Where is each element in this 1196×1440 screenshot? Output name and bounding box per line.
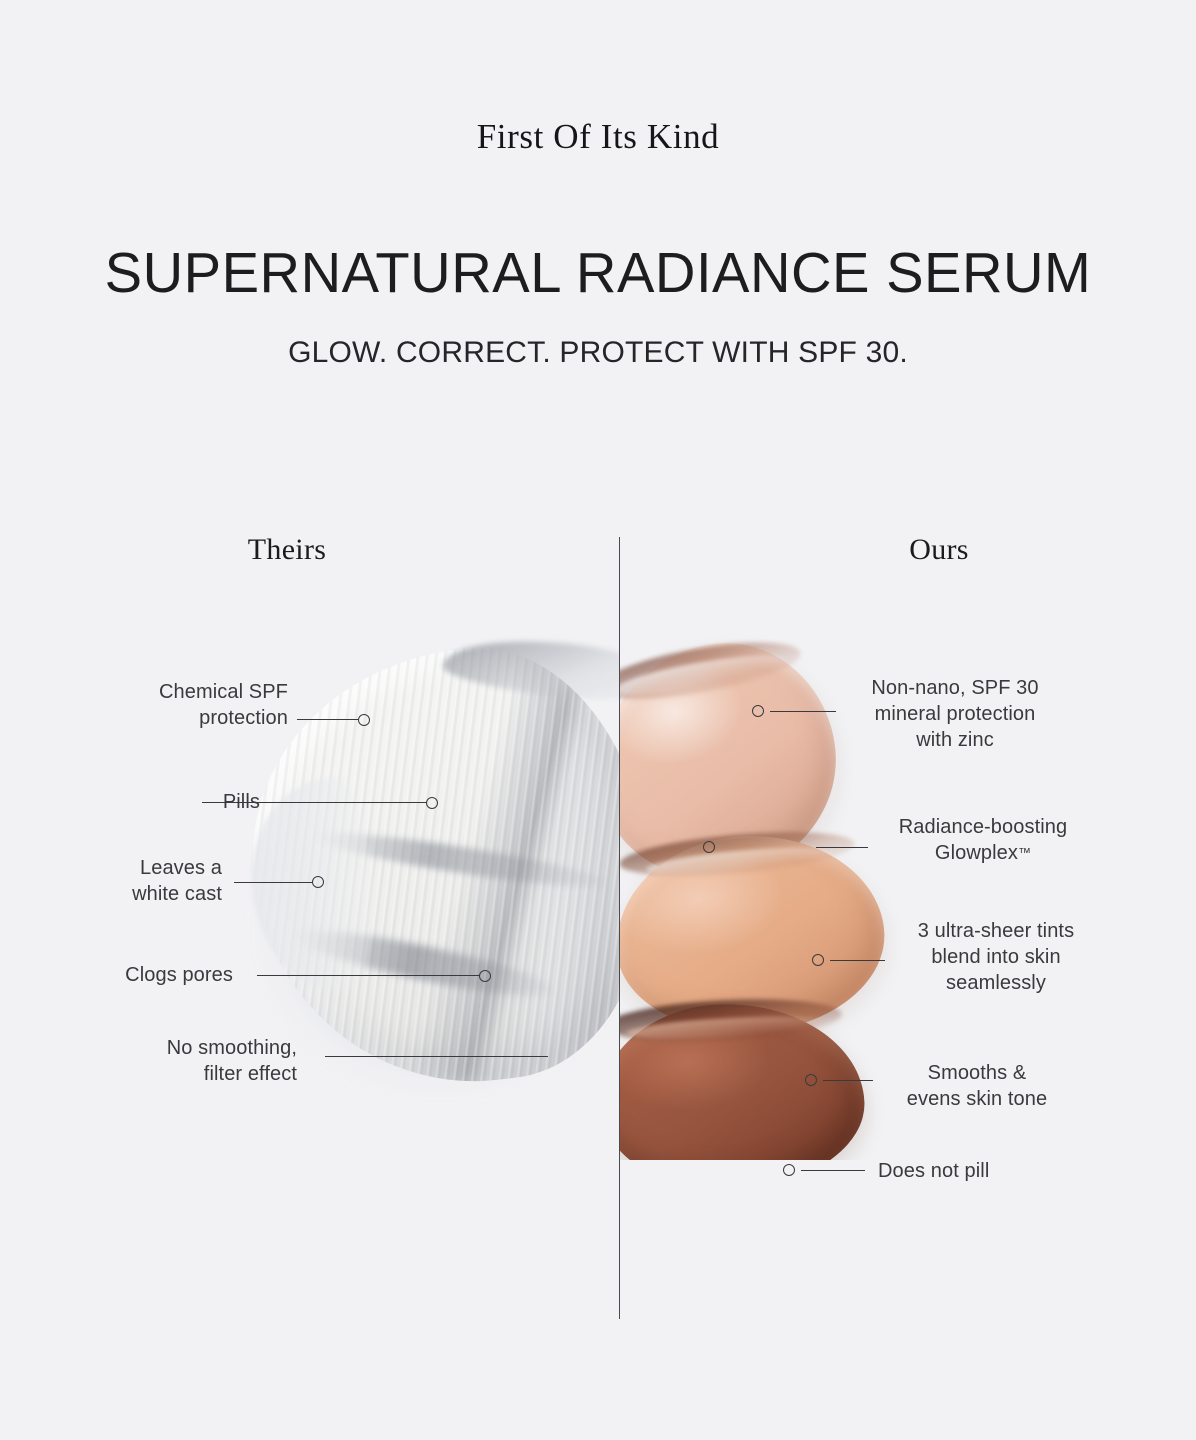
callout-label-ultra-sheer-tints: 3 ultra-sheer tints blend into skin seam… (889, 918, 1103, 996)
column-heading-ours: Ours (839, 533, 1039, 567)
callout-label-smooths-evens: Smooths & evens skin tone (876, 1060, 1078, 1112)
callout-label-white-cast: Leaves a white cast (92, 855, 222, 907)
callout-label-non-nano-spf: Non-nano, SPF 30 mineral protection with… (843, 675, 1067, 753)
page-title: SUPERNATURAL RADIANCE SERUM (9, 240, 1187, 306)
leader-line-non-nano-spf (770, 711, 836, 712)
callout-label-glowplex-text: Radiance-boosting Glowplex (899, 816, 1067, 864)
comparison-infographic: First Of Its Kind SUPERNATURAL RADIANCE … (0, 0, 1196, 1440)
leader-line-chemical-spf (297, 719, 359, 720)
leader-line-smooths-evens (823, 1080, 873, 1081)
leader-line-ultra-sheer-tints (830, 960, 885, 961)
eyebrow-text: First Of Its Kind (0, 117, 1196, 157)
leader-dot-clogs-pores (479, 970, 491, 982)
leader-line-does-not-pill (801, 1170, 865, 1171)
callout-label-does-not-pill: Does not pill (878, 1158, 1048, 1184)
center-divider (619, 537, 621, 1319)
leader-line-clogs-pores (257, 975, 480, 976)
leader-line-no-smoothing (325, 1056, 548, 1057)
leader-line-white-cast (234, 882, 313, 883)
leader-dot-glowplex (703, 841, 715, 853)
callout-label-glowplex: Radiance-boosting Glowplex™ (873, 814, 1093, 866)
leader-line-glowplex (816, 847, 868, 848)
callout-label-chemical-spf: Chemical SPF protection (98, 679, 288, 731)
deep-tint-drop (619, 997, 869, 1160)
leader-dot-white-cast (312, 876, 324, 888)
leader-dot-does-not-pill (783, 1164, 795, 1176)
leader-dot-ultra-sheer-tints (812, 954, 824, 966)
callout-label-clogs-pores: Clogs pores (88, 962, 233, 988)
page-subtitle: GLOW. CORRECT. PROTECT WITH SPF 30. (0, 336, 1196, 370)
leader-dot-pills (426, 797, 438, 809)
trademark-symbol: ™ (1018, 845, 1031, 860)
callout-label-no-smoothing: No smoothing, filter effect (112, 1035, 297, 1087)
leader-dot-non-nano-spf (752, 705, 764, 717)
leader-dot-chemical-spf (358, 714, 370, 726)
leader-line-pills (202, 802, 427, 803)
leader-dot-smooths-evens (805, 1074, 817, 1086)
column-heading-theirs: Theirs (187, 533, 387, 567)
